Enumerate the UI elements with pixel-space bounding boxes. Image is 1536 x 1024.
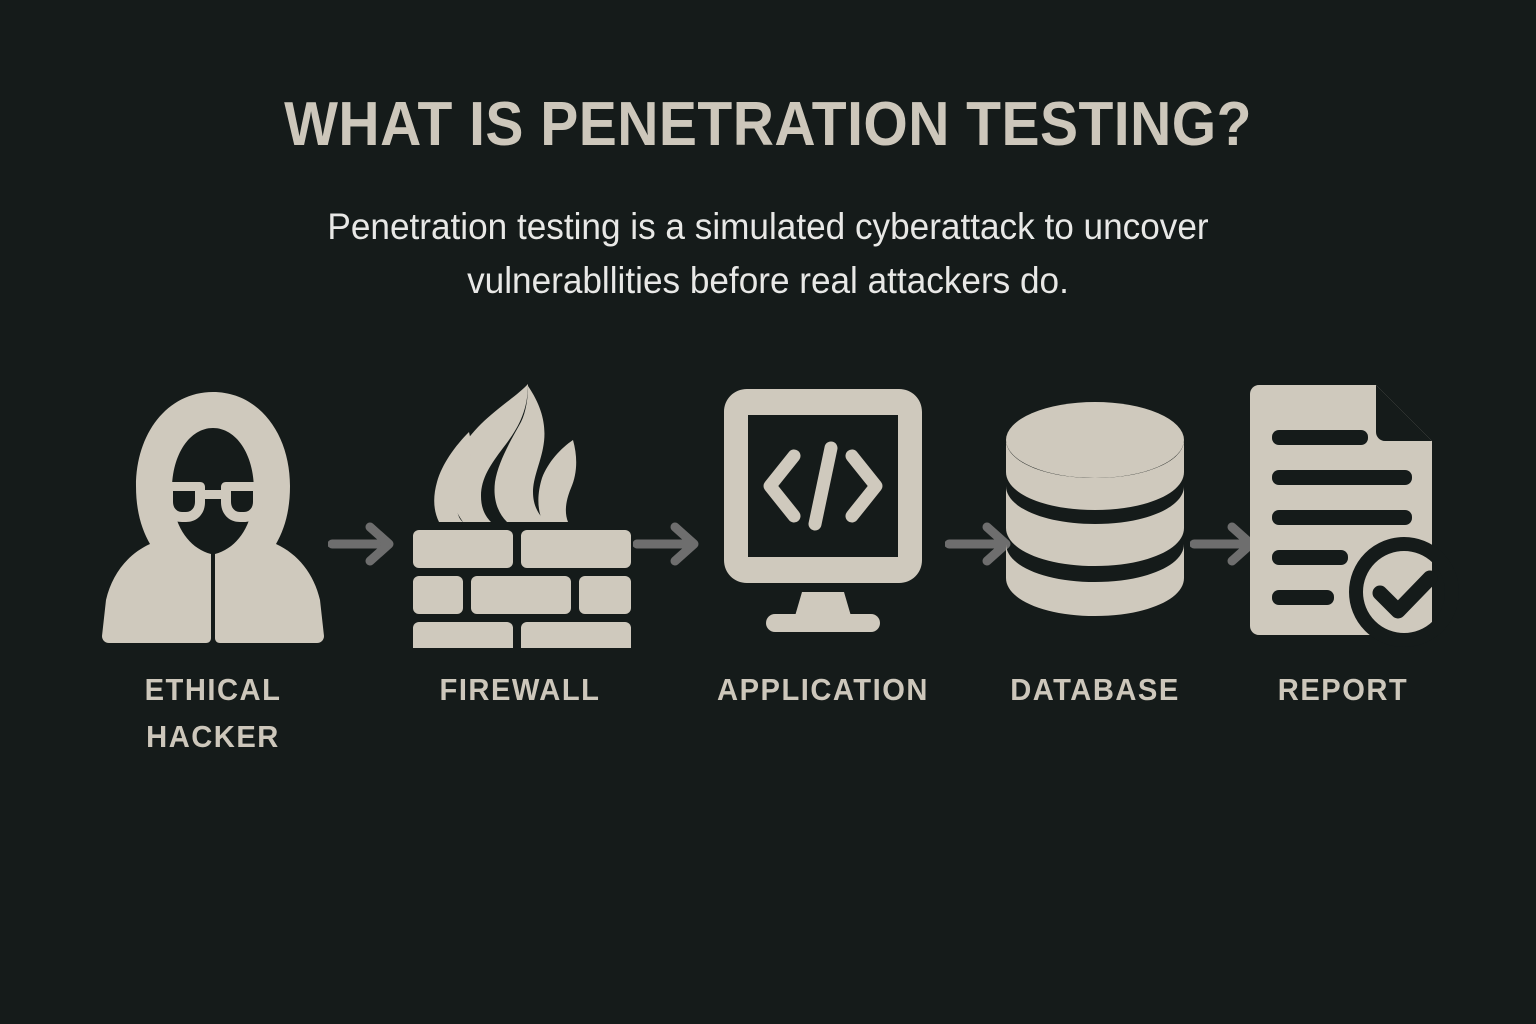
flow-step-label-line-1: ETHICAL	[96, 666, 331, 713]
hooded-hacker-icon	[88, 378, 338, 648]
flow-step-label-line-1: FIREWALL	[403, 666, 638, 713]
monitor-code-icon	[698, 378, 948, 648]
firewall-brick-flame-icon	[395, 378, 645, 648]
flow-step-label-line-1: REPORT	[1226, 666, 1461, 713]
flow-step-label: FIREWALL	[403, 666, 638, 713]
database-stack-icon	[970, 378, 1220, 648]
arrow-right-icon	[328, 516, 402, 572]
page-subtitle: Penetration testing is a simulated cyber…	[293, 200, 1243, 307]
page-title: WHAT IS PENETRATION TESTING?	[61, 92, 1474, 157]
flow-step-report: REPORT	[1218, 378, 1468, 768]
flow-step-ethical-hacker: ETHICAL HACKER	[88, 378, 338, 768]
flow-step-database: DATABASE	[970, 378, 1220, 768]
flow-step-label: APPLICATION	[706, 666, 941, 713]
flow-step-label: REPORT	[1226, 666, 1461, 713]
flow-step-application: APPLICATION	[698, 378, 948, 768]
flow-step-label: ETHICAL HACKER	[96, 666, 331, 760]
flow-step-label: DATABASE	[978, 666, 1213, 713]
subtitle-line-2: vulnerabllities before real attackers do…	[293, 254, 1243, 308]
flow-step-firewall: FIREWALL	[395, 378, 645, 768]
document-check-icon	[1218, 378, 1468, 648]
flow-step-label-line-1: APPLICATION	[706, 666, 941, 713]
arrow-right-icon	[633, 516, 707, 572]
infographic-canvas: WHAT IS PENETRATION TESTING? Penetration…	[0, 0, 1536, 1024]
process-flow: ETHICAL HACKER	[0, 378, 1536, 768]
subtitle-line-1: Penetration testing is a simulated cyber…	[293, 200, 1243, 254]
flow-step-label-line-2: HACKER	[96, 713, 331, 760]
flow-step-label-line-1: DATABASE	[978, 666, 1213, 713]
